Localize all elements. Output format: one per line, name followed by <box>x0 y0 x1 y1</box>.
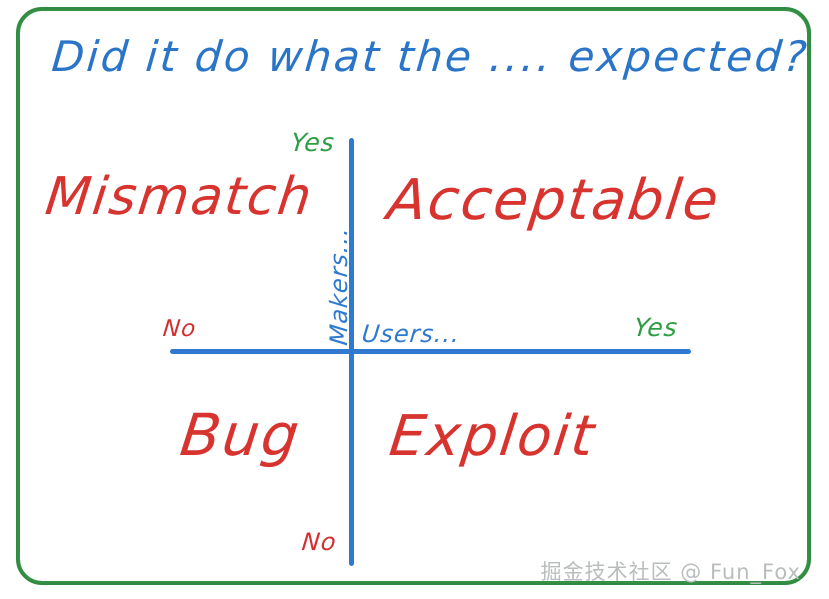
x-axis-title: Users... <box>361 320 462 348</box>
y-axis-low-label: No <box>301 528 339 556</box>
x-axis-high-label: Yes <box>632 313 679 342</box>
y-axis-title: Makers... <box>325 225 353 346</box>
watermark: 掘金技术社区 @ Fun_Fox <box>541 556 801 586</box>
y-axis-high-label: Yes <box>289 128 336 157</box>
whiteboard-diagram: Did it do what the .... expected? Yes No… <box>0 0 829 599</box>
quadrant-label-top-left: Mismatch <box>42 167 316 227</box>
page-title: Did it do what the .... expected? <box>50 32 811 81</box>
quadrant-label-bottom-left: Bug <box>177 401 305 469</box>
quadrant-label-bottom-right: Exploit <box>386 404 599 469</box>
quadrant-label-top-right: Acceptable <box>384 168 724 233</box>
x-axis-low-label: No <box>162 316 198 342</box>
horizontal-axis-line <box>170 349 691 354</box>
green-frame-border-inner <box>18 9 809 583</box>
